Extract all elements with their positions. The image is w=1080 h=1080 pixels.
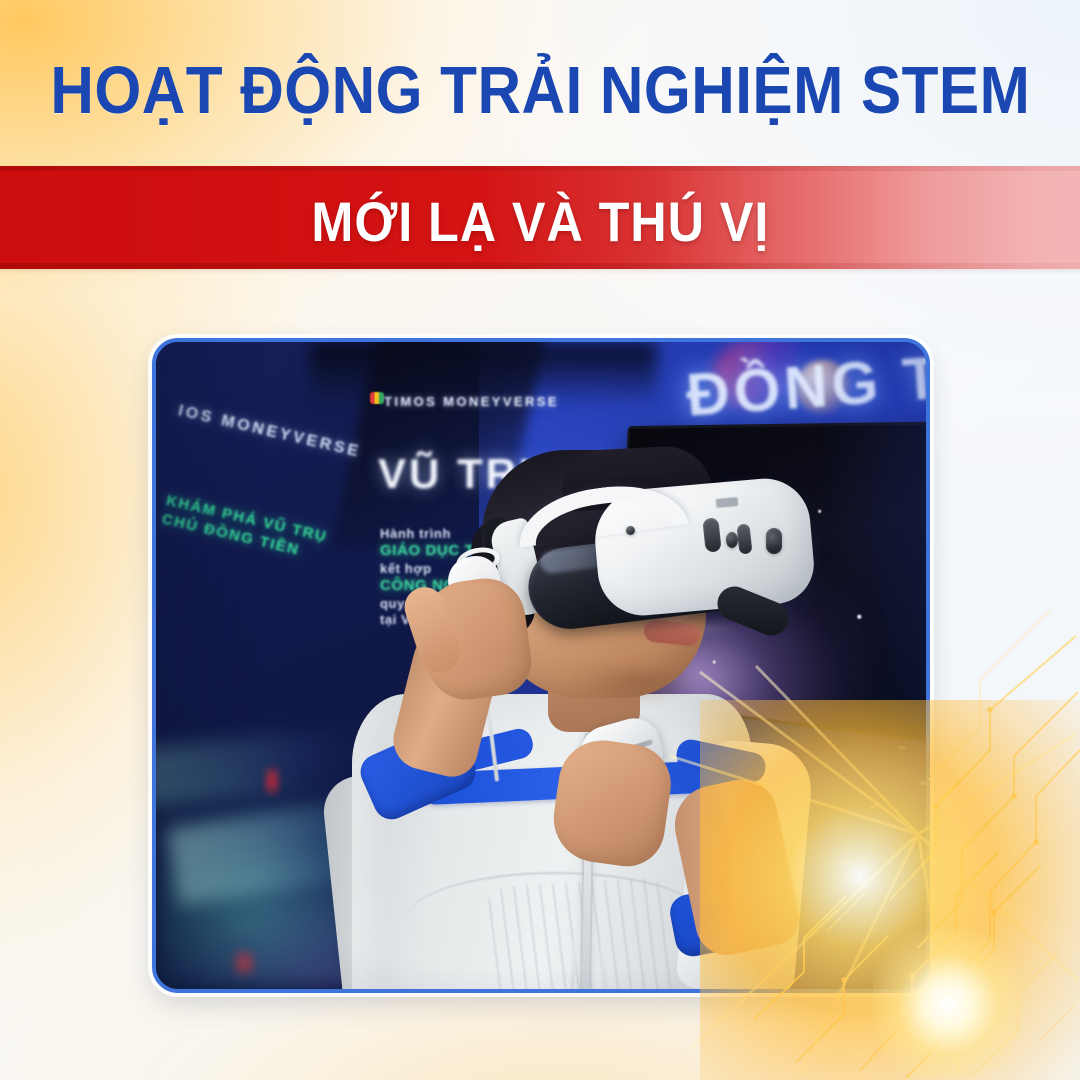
vr-camera-lens-2 bbox=[766, 528, 782, 554]
photo-card: IOS MONEYVERSE KHÁM PHÁ VŨ TRỤ CHỦ ĐỒNG … bbox=[152, 338, 930, 993]
chin-shadow bbox=[576, 662, 696, 702]
poster-canvas: HOẠT ĐỘNG TRẢI NGHIỆM STEM MỚI LẠ VÀ THÚ… bbox=[0, 0, 1080, 1080]
subtitle-banner: MỚI LẠ VÀ THÚ VỊ bbox=[0, 166, 1080, 269]
vr-camera-lens-1 bbox=[726, 532, 738, 548]
vr-brand-logo bbox=[716, 497, 739, 508]
student-subject bbox=[156, 342, 926, 989]
vr-experience-photo: IOS MONEYVERSE KHÁM PHÁ VŨ TRỤ CHỦ ĐỒNG … bbox=[156, 342, 926, 989]
page-title: HOẠT ĐỘNG TRẢI NGHIỆM STEM bbox=[50, 43, 1030, 124]
subtitle-text: MỚI LẠ VÀ THÚ VỊ bbox=[311, 186, 769, 250]
title-block: HOẠT ĐỘNG TRẢI NGHIỆM STEM bbox=[0, 0, 1080, 166]
jacket-creases bbox=[483, 877, 680, 989]
